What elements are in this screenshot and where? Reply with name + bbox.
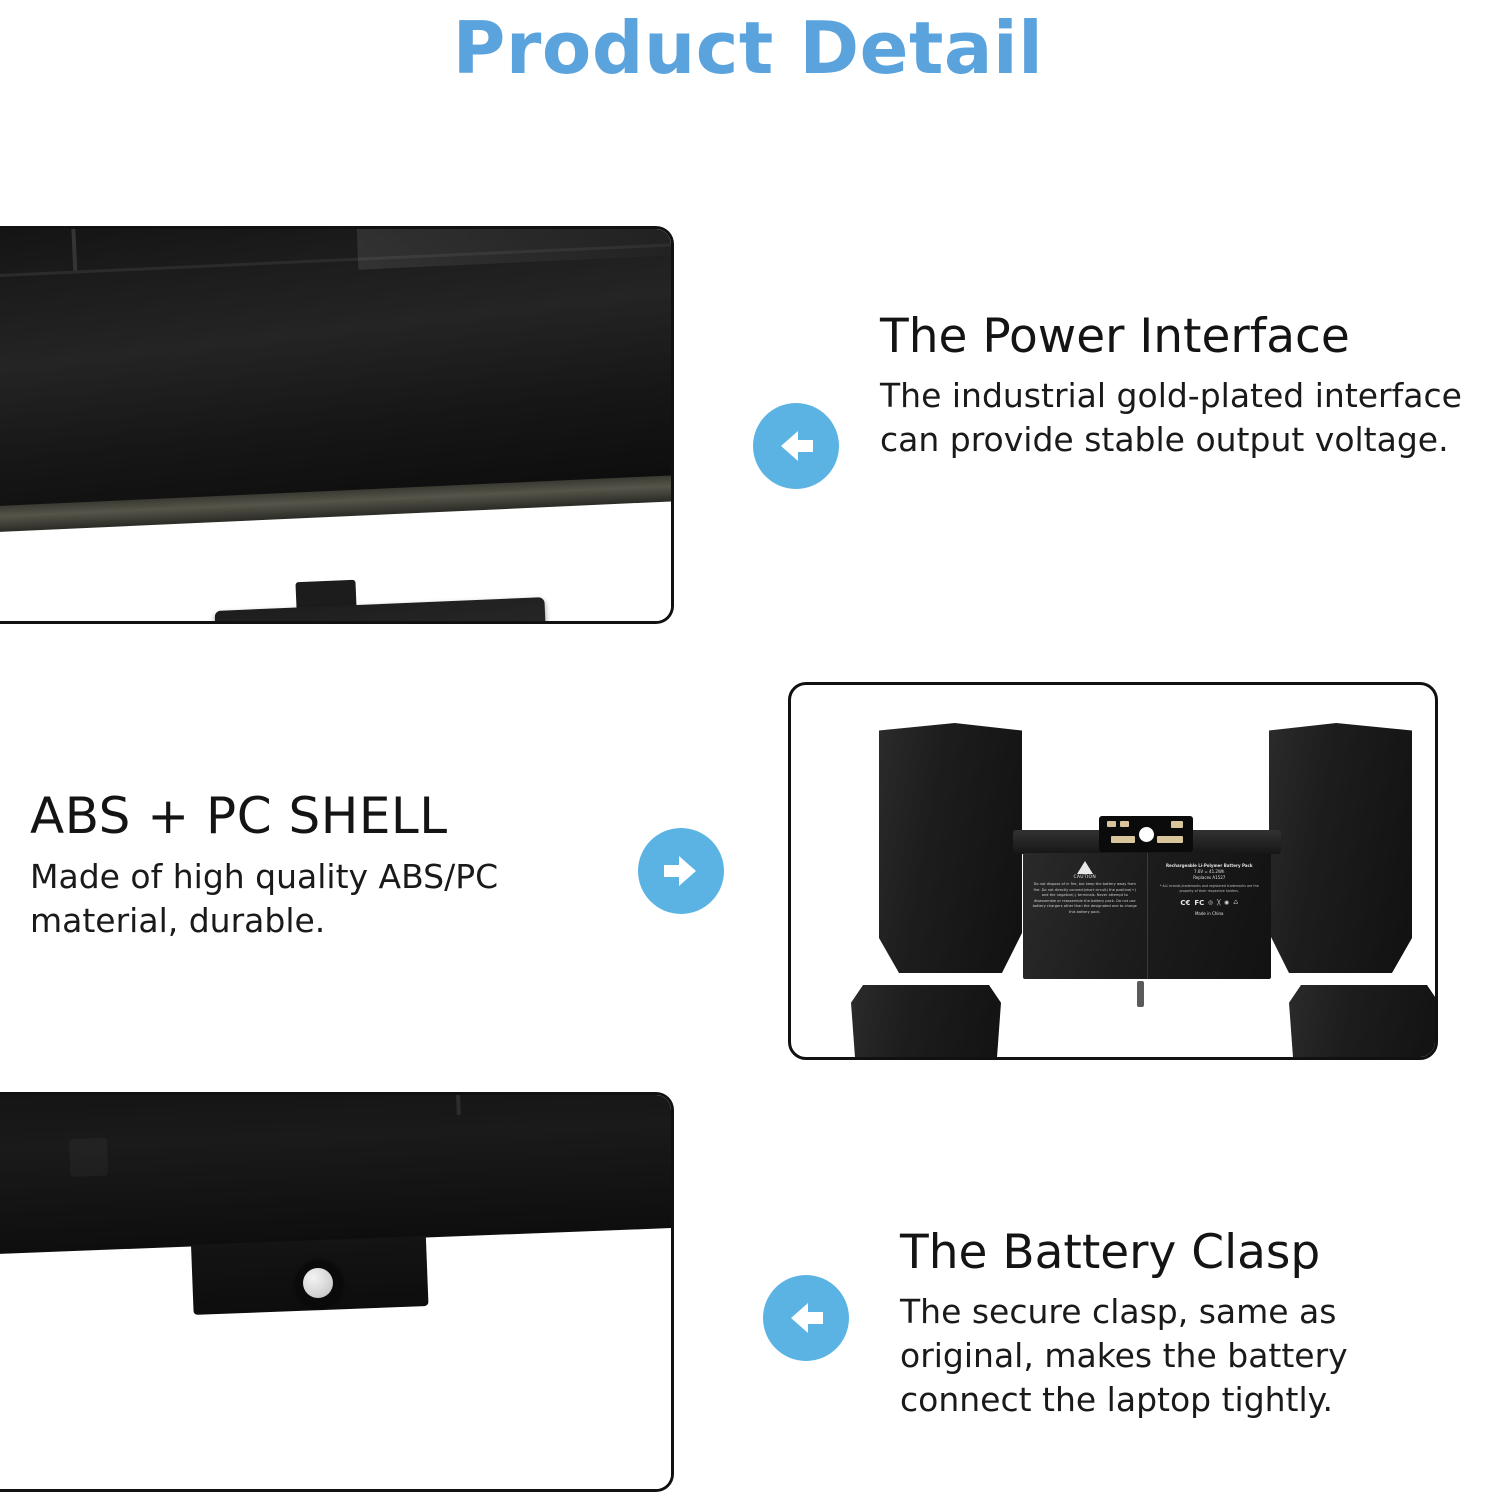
ce-mark-icon: C€ bbox=[1180, 899, 1190, 907]
surface-highlight bbox=[356, 226, 674, 270]
power-interface-heading: The Power Interface bbox=[880, 312, 1490, 362]
battery-cell bbox=[1269, 723, 1412, 973]
recycle-mark-icon: ♺ bbox=[1233, 900, 1238, 906]
battery-clasp-body: The secure clasp, same as original, make… bbox=[900, 1290, 1480, 1422]
connector-hole bbox=[1139, 827, 1154, 842]
battery-cell bbox=[1289, 985, 1438, 1060]
arrow-left-icon bbox=[763, 1275, 849, 1361]
panel-seam bbox=[71, 226, 77, 271]
page-title: Product Detail bbox=[0, 6, 1496, 90]
connector-pad bbox=[1120, 821, 1129, 827]
power-interface-image-panel bbox=[0, 226, 674, 624]
battery-pack-image-panel: CAUTION Do not dispose of in fire, but k… bbox=[788, 682, 1438, 1060]
connector-pad bbox=[1171, 821, 1183, 828]
gold-connector-board bbox=[215, 597, 550, 624]
clasp-seam bbox=[455, 1092, 461, 1115]
arrow-left-icon bbox=[753, 403, 839, 489]
abs-pc-shell-body: Made of high quality ABS/PC material, du… bbox=[30, 855, 590, 943]
clasp-screw-hole bbox=[303, 1268, 333, 1298]
caution-label: CAUTION Do not dispose of in fire, but k… bbox=[1023, 853, 1148, 979]
connector-stub bbox=[1137, 981, 1144, 1007]
battery-body-surface bbox=[0, 226, 674, 523]
fcc-mark-icon: FC bbox=[1194, 899, 1204, 907]
rohs-mark-icon: ◎ bbox=[1208, 900, 1213, 906]
caution-title: CAUTION bbox=[1027, 875, 1143, 880]
battery-replaces: Replaces A1527 bbox=[1152, 875, 1268, 881]
ul-mark-icon: ◉ bbox=[1224, 900, 1229, 906]
trademark-note: * ALL brands,trademarks and registered t… bbox=[1158, 884, 1262, 894]
connector-pad bbox=[1107, 821, 1116, 827]
warning-triangle-icon bbox=[1077, 861, 1093, 874]
power-interface-body: The industrial gold-plated interface can… bbox=[880, 374, 1490, 462]
spec-label: Rechargeable Li-Polymer Battery Pack 7.6… bbox=[1148, 853, 1272, 979]
clasp-body bbox=[0, 1092, 674, 1255]
battery-cell bbox=[851, 985, 1001, 1060]
product-detail-infographic: Product Detail bbox=[0, 0, 1496, 1500]
battery-clasp-heading: The Battery Clasp bbox=[900, 1228, 1480, 1278]
clasp-emboss-mark bbox=[69, 1138, 108, 1177]
battery-cell bbox=[879, 723, 1022, 973]
abs-pc-shell-heading: ABS + PC SHELL bbox=[30, 790, 590, 843]
arrow-right-icon bbox=[638, 828, 724, 914]
power-interface-photo bbox=[0, 229, 671, 621]
connector-pad bbox=[1111, 836, 1135, 843]
power-interface-text-block: The Power Interface The industrial gold-… bbox=[880, 312, 1490, 462]
abs-pc-shell-text-block: ABS + PC SHELL Made of high quality ABS/… bbox=[30, 790, 590, 943]
battery-center-label-area: CAUTION Do not dispose of in fire, but k… bbox=[1023, 853, 1271, 979]
weee-bin-icon: ╳ bbox=[1217, 900, 1220, 906]
battery-clasp-image-panel bbox=[0, 1092, 674, 1492]
battery-connector bbox=[1099, 816, 1193, 852]
battery-clasp-photo bbox=[0, 1095, 671, 1489]
battery-clasp-text-block: The Battery Clasp The secure clasp, same… bbox=[900, 1228, 1480, 1421]
connector-pad bbox=[1157, 836, 1183, 843]
battery-pack-illustration: CAUTION Do not dispose of in fire, but k… bbox=[791, 685, 1435, 1057]
caution-body: Do not dispose of in fire, but keep the … bbox=[1030, 882, 1140, 915]
origin-text: Made in China bbox=[1152, 911, 1268, 916]
certification-icons: C€ FC ◎ ╳ ◉ ♺ bbox=[1152, 899, 1268, 907]
